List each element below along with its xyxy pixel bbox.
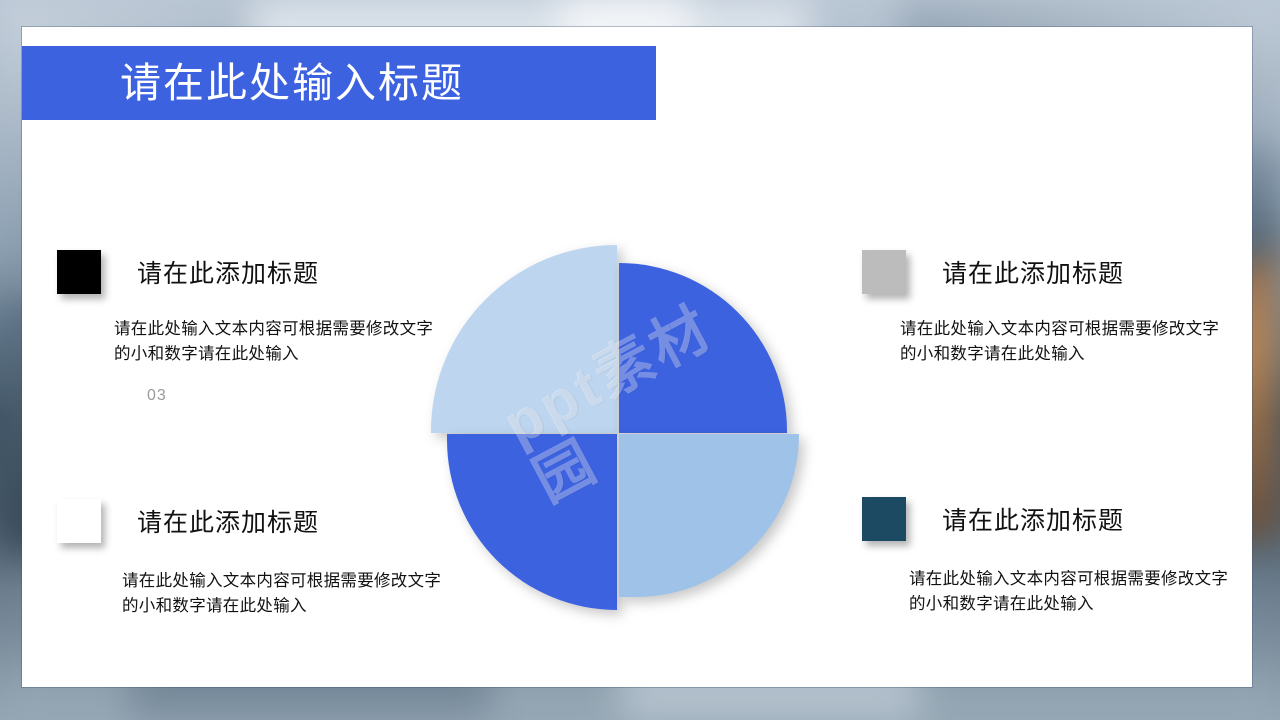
block-number: 03 xyxy=(147,387,457,405)
title-banner: 请在此处输入标题 xyxy=(22,46,656,120)
block-body-text: 请在此处输入文本内容可根据需要修改文字的小和数字请在此处输入 xyxy=(122,569,442,619)
block-body-text: 请在此处输入文本内容可根据需要修改文字的小和数字请在此处输入 xyxy=(900,317,1220,367)
pie-chart[interactable]: ppt素材园 xyxy=(422,212,812,627)
block-marker-swatch xyxy=(862,497,906,541)
block-title: 请在此添加标题 xyxy=(137,503,319,539)
pie-slice-top-left[interactable] xyxy=(431,245,617,433)
page-title: 请在此处输入标题 xyxy=(120,63,464,104)
content-block-top-right[interactable]: 请在此添加标题 请在此处输入文本内容可根据需要修改文字的小和数字请在此处输入 xyxy=(862,250,1252,367)
slide-canvas: 请在此处输入标题 请在此添加标题 请在此处输入文本内容可根据需要修改文字的小和数… xyxy=(22,27,1252,687)
content-block-top-left[interactable]: 请在此添加标题 请在此处输入文本内容可根据需要修改文字的小和数字请在此处输入 0… xyxy=(57,250,457,405)
block-marker-swatch xyxy=(57,250,101,294)
block-marker-swatch xyxy=(57,499,101,543)
block-marker-swatch xyxy=(862,250,906,294)
pie-slice-bottom-left[interactable] xyxy=(447,434,617,610)
block-body-text: 请在此处输入文本内容可根据需要修改文字的小和数字请在此处输入 xyxy=(909,567,1229,617)
block-body-text: 请在此处输入文本内容可根据需要修改文字的小和数字请在此处输入 xyxy=(114,317,434,367)
content-block-bottom-right[interactable]: 请在此添加标题 请在此处输入文本内容可根据需要修改文字的小和数字请在此处输入 xyxy=(862,497,1252,617)
pie-slice-top-right[interactable] xyxy=(619,263,787,433)
content-block-bottom-left[interactable]: 请在此添加标题 请在此处输入文本内容可根据需要修改文字的小和数字请在此处输入 xyxy=(57,499,457,619)
block-header: 请在此添加标题 xyxy=(862,497,1252,541)
block-title: 请在此添加标题 xyxy=(942,501,1124,537)
block-header: 请在此添加标题 xyxy=(57,250,457,294)
block-header: 请在此添加标题 xyxy=(862,250,1252,294)
block-title: 请在此添加标题 xyxy=(137,254,319,290)
pie-slice-bottom-right[interactable] xyxy=(619,434,799,597)
block-title: 请在此添加标题 xyxy=(942,254,1124,290)
block-header: 请在此添加标题 xyxy=(57,499,457,543)
